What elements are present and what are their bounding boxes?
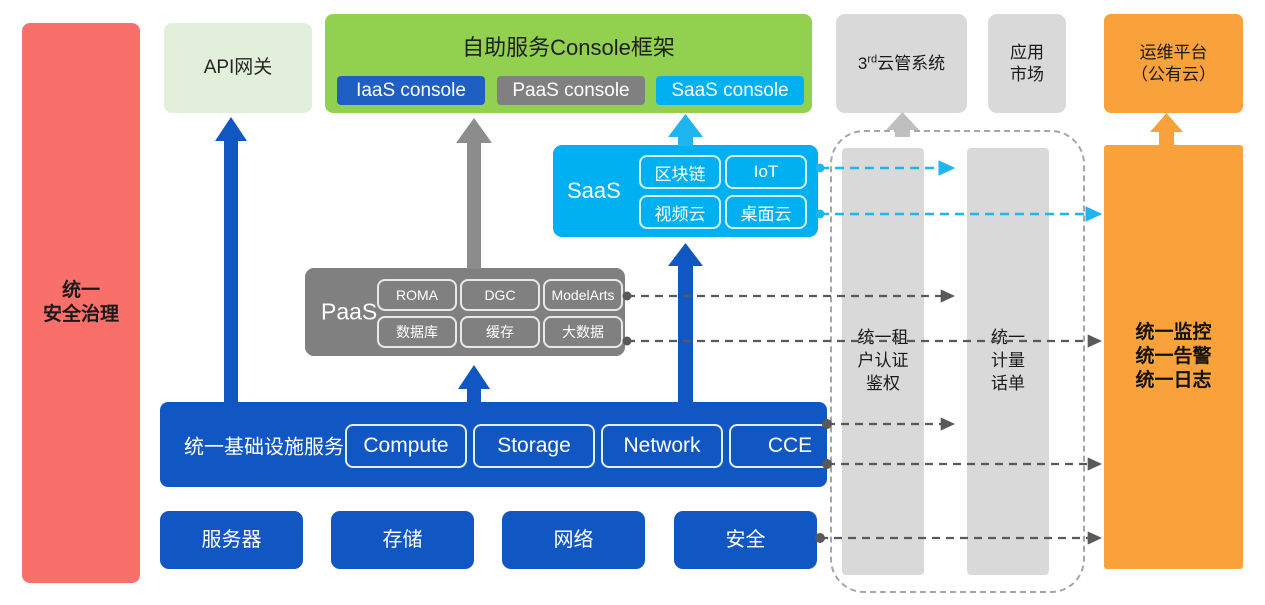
app-market-line-2: 市场 bbox=[1010, 64, 1044, 85]
governance-line-1: 统一 bbox=[43, 279, 119, 303]
saas-console-chip[interactable]: SaaS console bbox=[656, 76, 804, 105]
paas-chip-modelarts[interactable]: ModelArts bbox=[543, 279, 623, 311]
app-market-box: 应用 市场 bbox=[988, 14, 1066, 113]
iaas-chip-network[interactable]: Network bbox=[601, 424, 723, 468]
saas-label: SaaS bbox=[567, 178, 621, 204]
third-party-sup: rd bbox=[867, 53, 877, 65]
third-party-label: 3rd云管系统 bbox=[858, 53, 945, 74]
ops-panel-line-3: 统一日志 bbox=[1135, 369, 1211, 393]
column-1-line-2: 计量 bbox=[991, 350, 1025, 373]
arrow-iaas-to-saas bbox=[668, 243, 703, 404]
ops-panel-line-2: 统一告警 bbox=[1135, 345, 1211, 369]
unified-infrastructure-service-bar: 统一基础设施服务 Compute Storage Network CCE bbox=[160, 402, 827, 487]
paas-chip-bigdata[interactable]: 大数据 bbox=[543, 316, 623, 348]
saas-chip-iot[interactable]: IoT bbox=[725, 155, 807, 189]
unified-security-governance-panel: 统一 安全治理 bbox=[22, 23, 140, 583]
hardware-box-network: 网络 bbox=[502, 511, 645, 569]
console-framework-title: 自助服务Console框架 bbox=[325, 34, 812, 62]
paas-chip-cache[interactable]: 缓存 bbox=[460, 316, 540, 348]
column-unified-tenant-auth: 统一租 户认证 鉴权 bbox=[842, 148, 924, 575]
column-unified-metering-billing: 统一 计量 话单 bbox=[967, 148, 1049, 575]
governance-line-2: 安全治理 bbox=[43, 303, 119, 327]
ops-panel-line-1: 统一监控 bbox=[1135, 321, 1211, 345]
iaas-label: 统一基础设施服务 bbox=[184, 430, 344, 459]
arrow-iaas-to-api-gateway bbox=[215, 117, 247, 403]
self-service-console-framework: 自助服务Console框架 IaaS console PaaS console … bbox=[325, 14, 812, 113]
column-0-line-2: 户认证 bbox=[858, 350, 909, 373]
arrow-saas-to-saas-console bbox=[668, 114, 703, 146]
arrow-ops-panel-to-ops-platform bbox=[1150, 113, 1183, 146]
third-party-prefix: 3 bbox=[858, 54, 867, 73]
column-0-line-1: 统一租 bbox=[858, 327, 909, 350]
arrow-iaas-to-paas bbox=[458, 365, 490, 404]
column-0-line-3: 鉴权 bbox=[858, 373, 909, 396]
ops-platform-line-2: （公有云） bbox=[1131, 64, 1216, 85]
api-gateway-label: API网关 bbox=[204, 56, 273, 80]
paas-label: PaaS bbox=[321, 299, 377, 326]
unified-monitoring-panel: 统一监控 统一告警 统一日志 bbox=[1104, 145, 1243, 569]
hardware-box-server: 服务器 bbox=[160, 511, 303, 569]
third-party-cloud-management-box: 3rd云管系统 bbox=[836, 14, 967, 113]
saas-block: SaaS 区块链 IoT 视频云 桌面云 bbox=[553, 145, 818, 237]
hardware-box-security: 安全 bbox=[674, 511, 817, 569]
saas-chip-video-cloud[interactable]: 视频云 bbox=[639, 195, 721, 229]
iaas-console-chip[interactable]: IaaS console bbox=[337, 76, 485, 105]
paas-chip-roma[interactable]: ROMA bbox=[377, 279, 457, 311]
third-party-suffix: 云管系统 bbox=[877, 54, 945, 73]
saas-chip-desktop-cloud[interactable]: 桌面云 bbox=[725, 195, 807, 229]
paas-chip-dgc[interactable]: DGC bbox=[460, 279, 540, 311]
iaas-chip-storage[interactable]: Storage bbox=[473, 424, 595, 468]
paas-block: PaaS ROMA DGC ModelArts 数据库 缓存 大数据 bbox=[305, 268, 625, 356]
api-gateway-box: API网关 bbox=[164, 23, 312, 113]
paas-console-chip[interactable]: PaaS console bbox=[497, 76, 645, 105]
arrow-paas-to-console bbox=[456, 118, 492, 269]
column-1-line-1: 统一 bbox=[991, 327, 1025, 350]
ops-platform-line-1: 运维平台 bbox=[1131, 42, 1216, 63]
ops-platform-public-cloud-box: 运维平台 （公有云） bbox=[1104, 14, 1243, 113]
app-market-line-1: 应用 bbox=[1010, 42, 1044, 63]
architecture-diagram: 统一 安全治理 API网关 自助服务Console框架 IaaS console… bbox=[0, 0, 1265, 605]
saas-chip-blockchain[interactable]: 区块链 bbox=[639, 155, 721, 189]
hardware-box-storage: 存储 bbox=[331, 511, 474, 569]
column-1-line-3: 话单 bbox=[991, 373, 1025, 396]
iaas-chip-compute[interactable]: Compute bbox=[345, 424, 467, 468]
paas-chip-database[interactable]: 数据库 bbox=[377, 316, 457, 348]
